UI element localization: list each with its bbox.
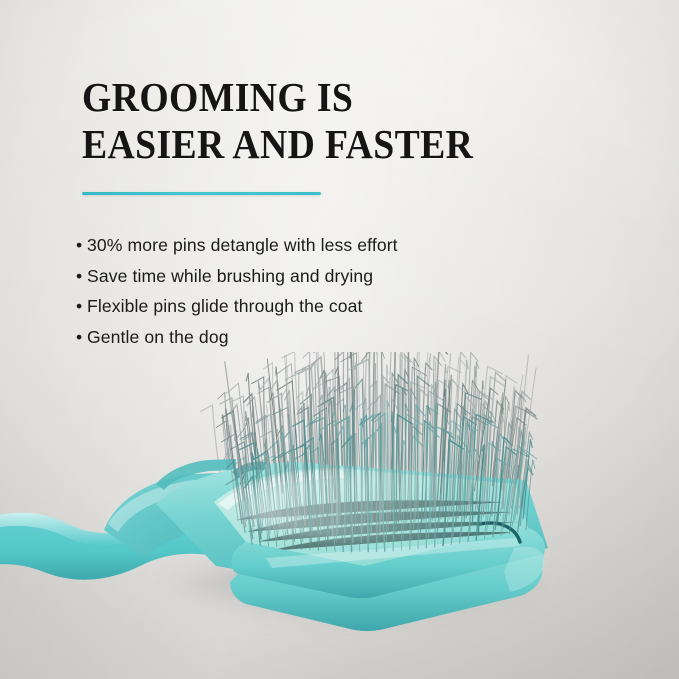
bullet-marker-icon: •	[76, 261, 87, 292]
bullet-marker-icon: •	[76, 230, 87, 261]
accent-divider	[82, 192, 321, 195]
headline: GROOMING IS EASIER AND FASTER	[82, 74, 560, 168]
list-item-label: Save time while brushing and drying	[87, 266, 373, 286]
list-item: •Save time while brushing and drying	[76, 261, 516, 292]
list-item: •Gentle on the dog	[76, 322, 516, 353]
product-feature-image: GROOMING IS EASIER AND FASTER •30% more …	[0, 0, 679, 679]
bullet-marker-icon: •	[76, 322, 87, 353]
list-item-label: Gentle on the dog	[87, 327, 229, 347]
headline-line-2: EASIER AND FASTER	[82, 121, 560, 168]
list-item-label: Flexible pins glide through the coat	[87, 296, 363, 316]
feature-bullet-list: •30% more pins detangle with less effort…	[76, 230, 516, 352]
brush-head-plate	[96, 352, 596, 642]
bullet-marker-icon: •	[76, 291, 87, 322]
product-image	[0, 352, 679, 679]
list-item: •30% more pins detangle with less effort	[76, 230, 516, 261]
list-item-label: 30% more pins detangle with less effort	[87, 235, 398, 255]
list-item: •Flexible pins glide through the coat	[76, 291, 516, 322]
headline-line-1: GROOMING IS	[82, 74, 560, 121]
brush-head	[96, 352, 596, 642]
